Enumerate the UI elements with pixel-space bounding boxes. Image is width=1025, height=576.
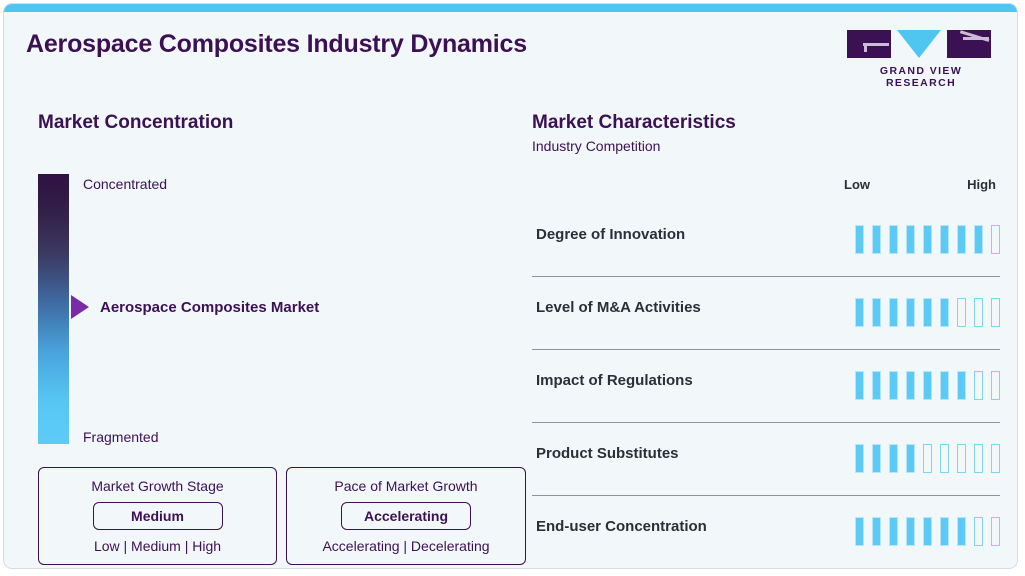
characteristic-row: Level of M&A Activities	[532, 277, 1000, 350]
market-growth-stage-value: Medium	[93, 502, 223, 530]
rating-bar-filled	[872, 298, 881, 327]
characteristic-row: Product Substitutes	[532, 423, 1000, 496]
rating-bar-filled	[872, 517, 881, 546]
characteristic-label: Level of M&A Activities	[536, 299, 701, 316]
rating-bar-empty	[991, 517, 1000, 546]
characteristic-label: Degree of Innovation	[536, 226, 685, 243]
market-growth-stage-box: Market Growth Stage Medium Low | Medium …	[38, 467, 277, 565]
logo-r-icon	[947, 30, 991, 58]
logo-wordmark: GRAND VIEW RESEARCH	[847, 65, 995, 89]
characteristic-row: Impact of Regulations	[532, 350, 1000, 423]
pace-of-market-growth-box: Pace of Market Growth Accelerating Accel…	[286, 467, 526, 565]
rating-bar-filled	[855, 298, 864, 327]
market-concentration-panel: Market Concentration Concentrated Fragme…	[26, 112, 496, 562]
rating-bar-filled	[906, 371, 915, 400]
characteristic-row: Degree of Innovation	[532, 204, 1000, 277]
rating-bar-empty	[940, 444, 949, 473]
rating-bar-filled	[889, 444, 898, 473]
characteristic-label: Impact of Regulations	[536, 372, 693, 389]
scale-label-fragmented: Fragmented	[83, 429, 158, 445]
rating-bar-filled	[940, 225, 949, 254]
rating-bar-empty	[991, 371, 1000, 400]
rating-bar-empty	[957, 298, 966, 327]
market-characteristics-panel: Market Characteristics Industry Competit…	[528, 112, 1000, 154]
rating-scale-high-label: High	[967, 177, 996, 192]
rating-bar-filled	[872, 444, 881, 473]
rating-bar-filled	[889, 517, 898, 546]
rating-bar-empty	[991, 444, 1000, 473]
marker-arrow-icon	[71, 295, 89, 319]
rating-bars	[855, 225, 1000, 254]
pace-of-market-growth-title: Pace of Market Growth	[299, 478, 513, 494]
rating-bar-filled	[855, 444, 864, 473]
market-position-label: Aerospace Composites Market	[100, 299, 319, 316]
rating-bar-empty	[991, 298, 1000, 327]
rating-bar-filled	[974, 225, 983, 254]
scale-label-concentrated: Concentrated	[83, 176, 167, 192]
characteristic-row: End-user Concentration	[532, 496, 1000, 569]
rating-scale-low-label: Low	[844, 177, 870, 192]
rating-bar-filled	[872, 371, 881, 400]
page-title: Aerospace Composites Industry Dynamics	[26, 30, 527, 59]
rating-bar-filled	[923, 225, 932, 254]
characteristic-label: Product Substitutes	[536, 445, 679, 462]
rating-bar-filled	[889, 371, 898, 400]
market-position-marker: Aerospace Composites Market	[71, 295, 319, 319]
rating-bar-filled	[923, 371, 932, 400]
rating-bar-filled	[906, 517, 915, 546]
rating-bar-filled	[923, 517, 932, 546]
market-concentration-title: Market Concentration	[38, 112, 496, 134]
rating-bar-filled	[940, 371, 949, 400]
rating-bar-filled	[957, 517, 966, 546]
pace-of-market-growth-value: Accelerating	[341, 502, 471, 530]
rating-bar-empty	[991, 225, 1000, 254]
rating-bars	[855, 444, 1000, 473]
rating-bar-filled	[889, 298, 898, 327]
characteristics-rows: Degree of InnovationLevel of M&A Activit…	[532, 204, 1000, 569]
rating-bar-empty	[923, 444, 932, 473]
rating-bar-filled	[957, 225, 966, 254]
market-characteristics-title: Market Characteristics	[532, 112, 1000, 134]
logo-v-triangle-icon	[897, 30, 941, 58]
rating-bar-empty	[974, 517, 983, 546]
top-accent-bar	[4, 4, 1017, 12]
logo-g-icon	[847, 30, 891, 58]
market-characteristics-subtitle: Industry Competition	[532, 138, 1000, 154]
rating-bar-filled	[855, 371, 864, 400]
rating-bar-empty	[957, 444, 966, 473]
grand-view-research-logo: GRAND VIEW RESEARCH	[847, 30, 995, 78]
rating-bars	[855, 298, 1000, 327]
rating-bars	[855, 371, 1000, 400]
rating-bar-filled	[906, 298, 915, 327]
market-growth-stage-options: Low | Medium | High	[51, 538, 264, 554]
rating-bar-filled	[923, 298, 932, 327]
rating-bar-empty	[974, 444, 983, 473]
rating-bar-filled	[906, 444, 915, 473]
rating-bar-empty	[974, 298, 983, 327]
rating-bar-filled	[940, 298, 949, 327]
rating-bar-empty	[974, 371, 983, 400]
concentration-gradient-bar	[38, 174, 69, 444]
rating-bar-filled	[872, 225, 881, 254]
rating-bar-filled	[889, 225, 898, 254]
logo-marks	[847, 30, 995, 60]
growth-info-boxes: Market Growth Stage Medium Low | Medium …	[38, 467, 526, 565]
infographic-frame: Aerospace Composites Industry Dynamics G…	[3, 3, 1018, 569]
rating-bars	[855, 517, 1000, 546]
pace-of-market-growth-options: Accelerating | Decelerating	[299, 538, 513, 554]
rating-bar-filled	[855, 517, 864, 546]
rating-bar-filled	[957, 371, 966, 400]
rating-bar-filled	[855, 225, 864, 254]
rating-scale-header: Low High	[844, 177, 996, 192]
characteristic-label: End-user Concentration	[536, 518, 707, 535]
rating-bar-filled	[906, 225, 915, 254]
market-growth-stage-title: Market Growth Stage	[51, 478, 264, 494]
rating-bar-filled	[940, 517, 949, 546]
